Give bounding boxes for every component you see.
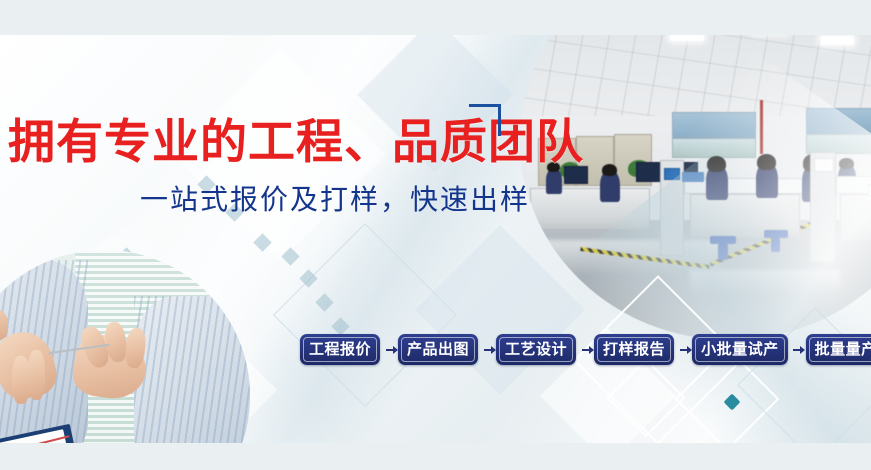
arrow-right-icon — [478, 334, 496, 365]
arrow-right-icon — [788, 334, 806, 365]
promotional-banner: 拥有专业的工程、品质团队 一站式报价及打样，快速出样 工程报价 产品出图 工艺设… — [0, 0, 871, 470]
arrow-right-icon — [380, 334, 398, 365]
process-step-6[interactable]: 批量量产 — [806, 334, 871, 365]
process-step-label: 批量量产 — [815, 342, 871, 357]
arrow-right-icon — [576, 334, 594, 365]
arrow-right-icon — [674, 334, 692, 365]
business-meeting-photo — [0, 250, 250, 470]
process-step-2[interactable]: 产品出图 — [398, 334, 478, 365]
process-step-1[interactable]: 工程报价 — [300, 334, 380, 365]
process-step-label: 工程报价 — [309, 342, 371, 357]
process-step-label: 产品出图 — [407, 342, 469, 357]
process-flow: 工程报价 产品出图 工艺设计 打样报告 小批量试产 批量量产 — [300, 334, 871, 365]
process-step-label: 工艺设计 — [505, 342, 567, 357]
process-step-3[interactable]: 工艺设计 — [496, 334, 576, 365]
process-step-5[interactable]: 小批量试产 — [692, 334, 788, 365]
process-step-label: 小批量试产 — [701, 342, 779, 357]
top-edge-band — [0, 0, 871, 35]
process-step-4[interactable]: 打样报告 — [594, 334, 674, 365]
office-workshop-photo — [520, 0, 871, 340]
corner-bracket-icon — [469, 104, 501, 136]
process-step-label: 打样报告 — [603, 342, 665, 357]
bottom-edge-band — [0, 443, 871, 470]
page-subtitle: 一站式报价及打样，快速出样 — [140, 186, 530, 214]
